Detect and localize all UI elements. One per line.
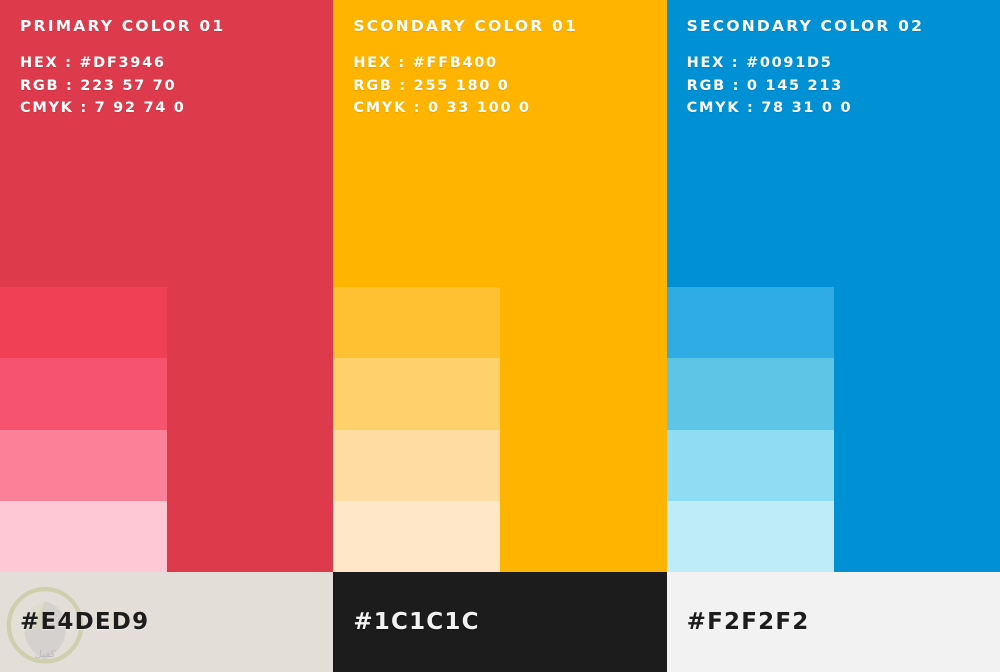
tint-swatch xyxy=(0,501,167,572)
tint-stack-secondary-02 xyxy=(667,287,834,572)
tint-swatch xyxy=(667,501,834,572)
tint-swatch xyxy=(333,287,500,358)
tint-swatch xyxy=(667,430,834,501)
tint-swatch xyxy=(667,358,834,429)
color-column-primary-01: PRIMARY COLOR 01 HEX : #DF3946 RGB : 223… xyxy=(0,0,333,672)
color-column-secondary-01: SCONDARY COLOR 01 HEX : #FFB400 RGB : 25… xyxy=(333,0,666,672)
tint-swatch xyxy=(667,287,834,358)
neutral-hex-label: #1C1C1C xyxy=(353,609,479,635)
tint-swatch xyxy=(0,358,167,429)
tint-swatch xyxy=(0,430,167,501)
watermark-caption: كفيل xyxy=(35,649,55,660)
tint-swatch xyxy=(333,358,500,429)
color-palette-board: PRIMARY COLOR 01 HEX : #DF3946 RGB : 223… xyxy=(0,0,1000,672)
tint-swatch xyxy=(0,287,167,358)
tint-swatch xyxy=(333,430,500,501)
neutral-swatch-pale: #F2F2F2 xyxy=(667,572,1000,672)
tint-swatch xyxy=(333,501,500,572)
tint-stack-primary-01 xyxy=(0,287,167,572)
neutral-hex-label: #F2F2F2 xyxy=(687,609,810,635)
tint-stack-secondary-01 xyxy=(333,287,500,572)
neutral-swatch-dark: #1C1C1C xyxy=(333,572,666,672)
neutral-swatch-light: كفيل #E4DED9 xyxy=(0,572,333,672)
color-column-secondary-02: SECONDARY COLOR 02 HEX : #0091D5 RGB : 0… xyxy=(667,0,1000,672)
neutral-hex-label: #E4DED9 xyxy=(20,609,149,635)
